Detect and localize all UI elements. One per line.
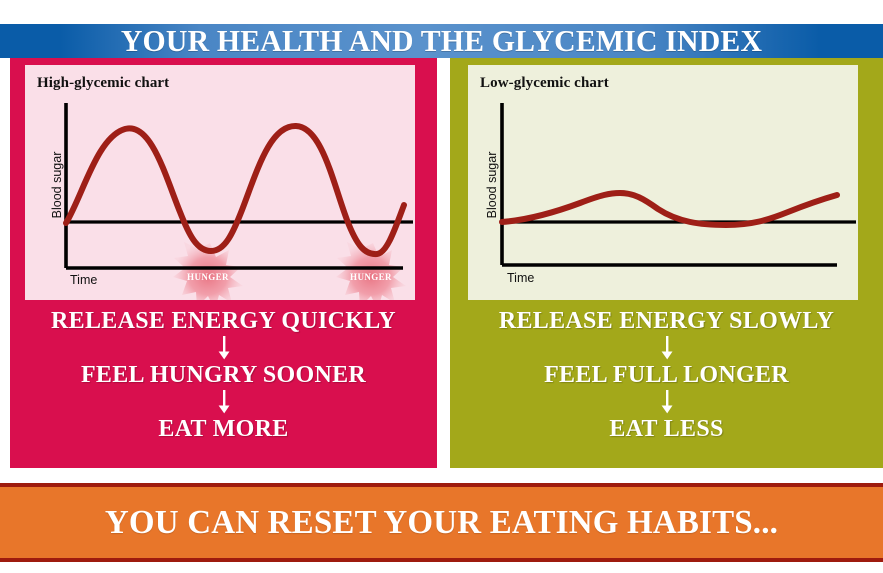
x-axis-label-low: Time: [507, 271, 534, 285]
arrow-down-icon-low-2: [450, 390, 883, 414]
y-axis-label-low: Blood sugar: [485, 152, 499, 219]
flow-low-glycemic: RELEASE ENERGY SLOWLY FEEL FULL LONGER E…: [450, 306, 883, 444]
chart-high-svg: HUNGER HUNGER Blood sugar Time: [25, 65, 415, 300]
flow-high-glycemic: RELEASE ENERGY QUICKLY FEEL HUNGRY SOONE…: [10, 306, 437, 444]
panel-high-glycemic: High-glycemic chart HUNGER HUNGER: [10, 58, 437, 468]
flow-low-line-2: FEEL FULL LONGER: [450, 360, 883, 390]
footer-banner: YOU CAN RESET YOUR EATING HABITS...: [0, 483, 883, 562]
arrow-down-icon-high-1: [10, 336, 437, 360]
chart-high-glycemic: High-glycemic chart HUNGER HUNGER: [25, 65, 415, 300]
hunger-badge-2-label: HUNGER: [350, 272, 392, 282]
flow-low-line-3: EAT LESS: [450, 414, 883, 444]
flow-high-line-1: RELEASE ENERGY QUICKLY: [10, 306, 437, 336]
header-banner: YOUR HEALTH AND THE GLYCEMIC INDEX: [0, 24, 883, 58]
flow-high-line-3: EAT MORE: [10, 414, 437, 444]
y-axis-label-high: Blood sugar: [50, 152, 64, 219]
chart-low-svg: Blood sugar Time: [468, 65, 858, 300]
arrow-down-icon-high-2: [10, 390, 437, 414]
x-axis-label-high: Time: [70, 273, 97, 287]
flow-low-line-1: RELEASE ENERGY SLOWLY: [450, 306, 883, 336]
page-title: YOUR HEALTH AND THE GLYCEMIC INDEX: [18, 24, 866, 58]
arrow-down-icon-low-1: [450, 336, 883, 360]
footer-title: YOU CAN RESET YOUR EATING HABITS...: [13, 487, 870, 558]
flow-high-line-2: FEEL HUNGRY SOONER: [10, 360, 437, 390]
blood-sugar-curve-low: [502, 193, 837, 225]
chart-low-glycemic: Low-glycemic chart Blood sugar Time: [468, 65, 858, 300]
hunger-badge-1-label: HUNGER: [187, 272, 229, 282]
blood-sugar-curve-high: [66, 126, 404, 254]
panel-low-glycemic: Low-glycemic chart Blood sugar Time RELE…: [450, 58, 883, 468]
